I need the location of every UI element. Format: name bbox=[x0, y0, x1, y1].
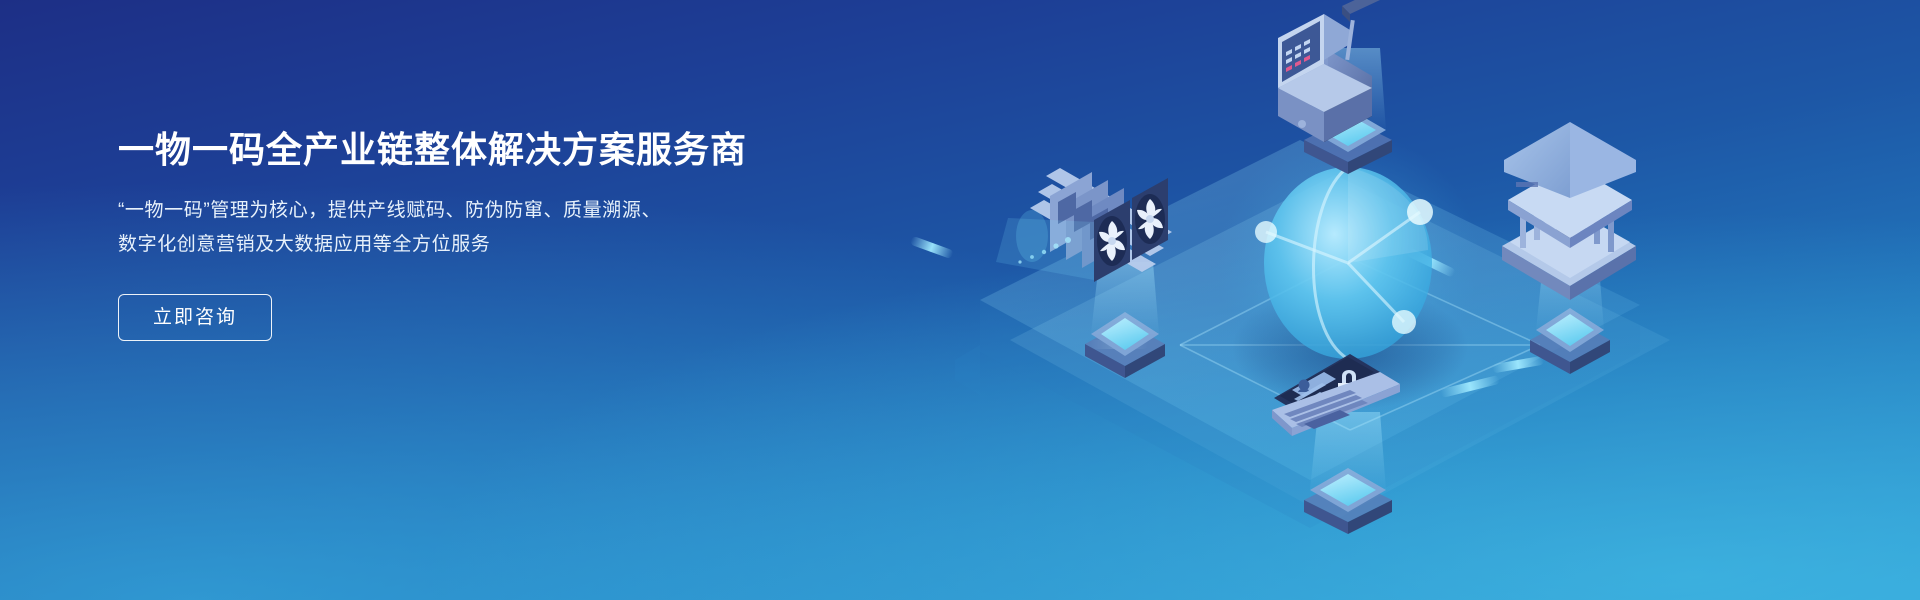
server-rig-icon bbox=[996, 168, 1172, 282]
subtitle-line-1: “一物一码”管理为核心，提供产线赋码、防伪防窜、质量溯源、 bbox=[118, 194, 878, 228]
pedestal-bottom bbox=[1304, 412, 1392, 534]
consult-now-button[interactable]: 立即咨询 bbox=[118, 294, 272, 341]
hero-banner: 一物一码全产业链整体解决方案服务商 “一物一码”管理为核心，提供产线赋码、防伪防… bbox=[0, 0, 1920, 600]
hero-subtitle: “一物一码”管理为核心，提供产线赋码、防伪防窜、质量溯源、 数字化创意营销及大数… bbox=[118, 194, 878, 262]
hero-copy: 一物一码全产业链整体解决方案服务商 “一物一码”管理为核心，提供产线赋码、防伪防… bbox=[118, 128, 878, 341]
hero-illustration bbox=[880, 0, 1920, 600]
subtitle-line-2: 数字化创意营销及大数据应用等全方位服务 bbox=[118, 228, 878, 262]
page-title: 一物一码全产业链整体解决方案服务商 bbox=[118, 128, 878, 172]
